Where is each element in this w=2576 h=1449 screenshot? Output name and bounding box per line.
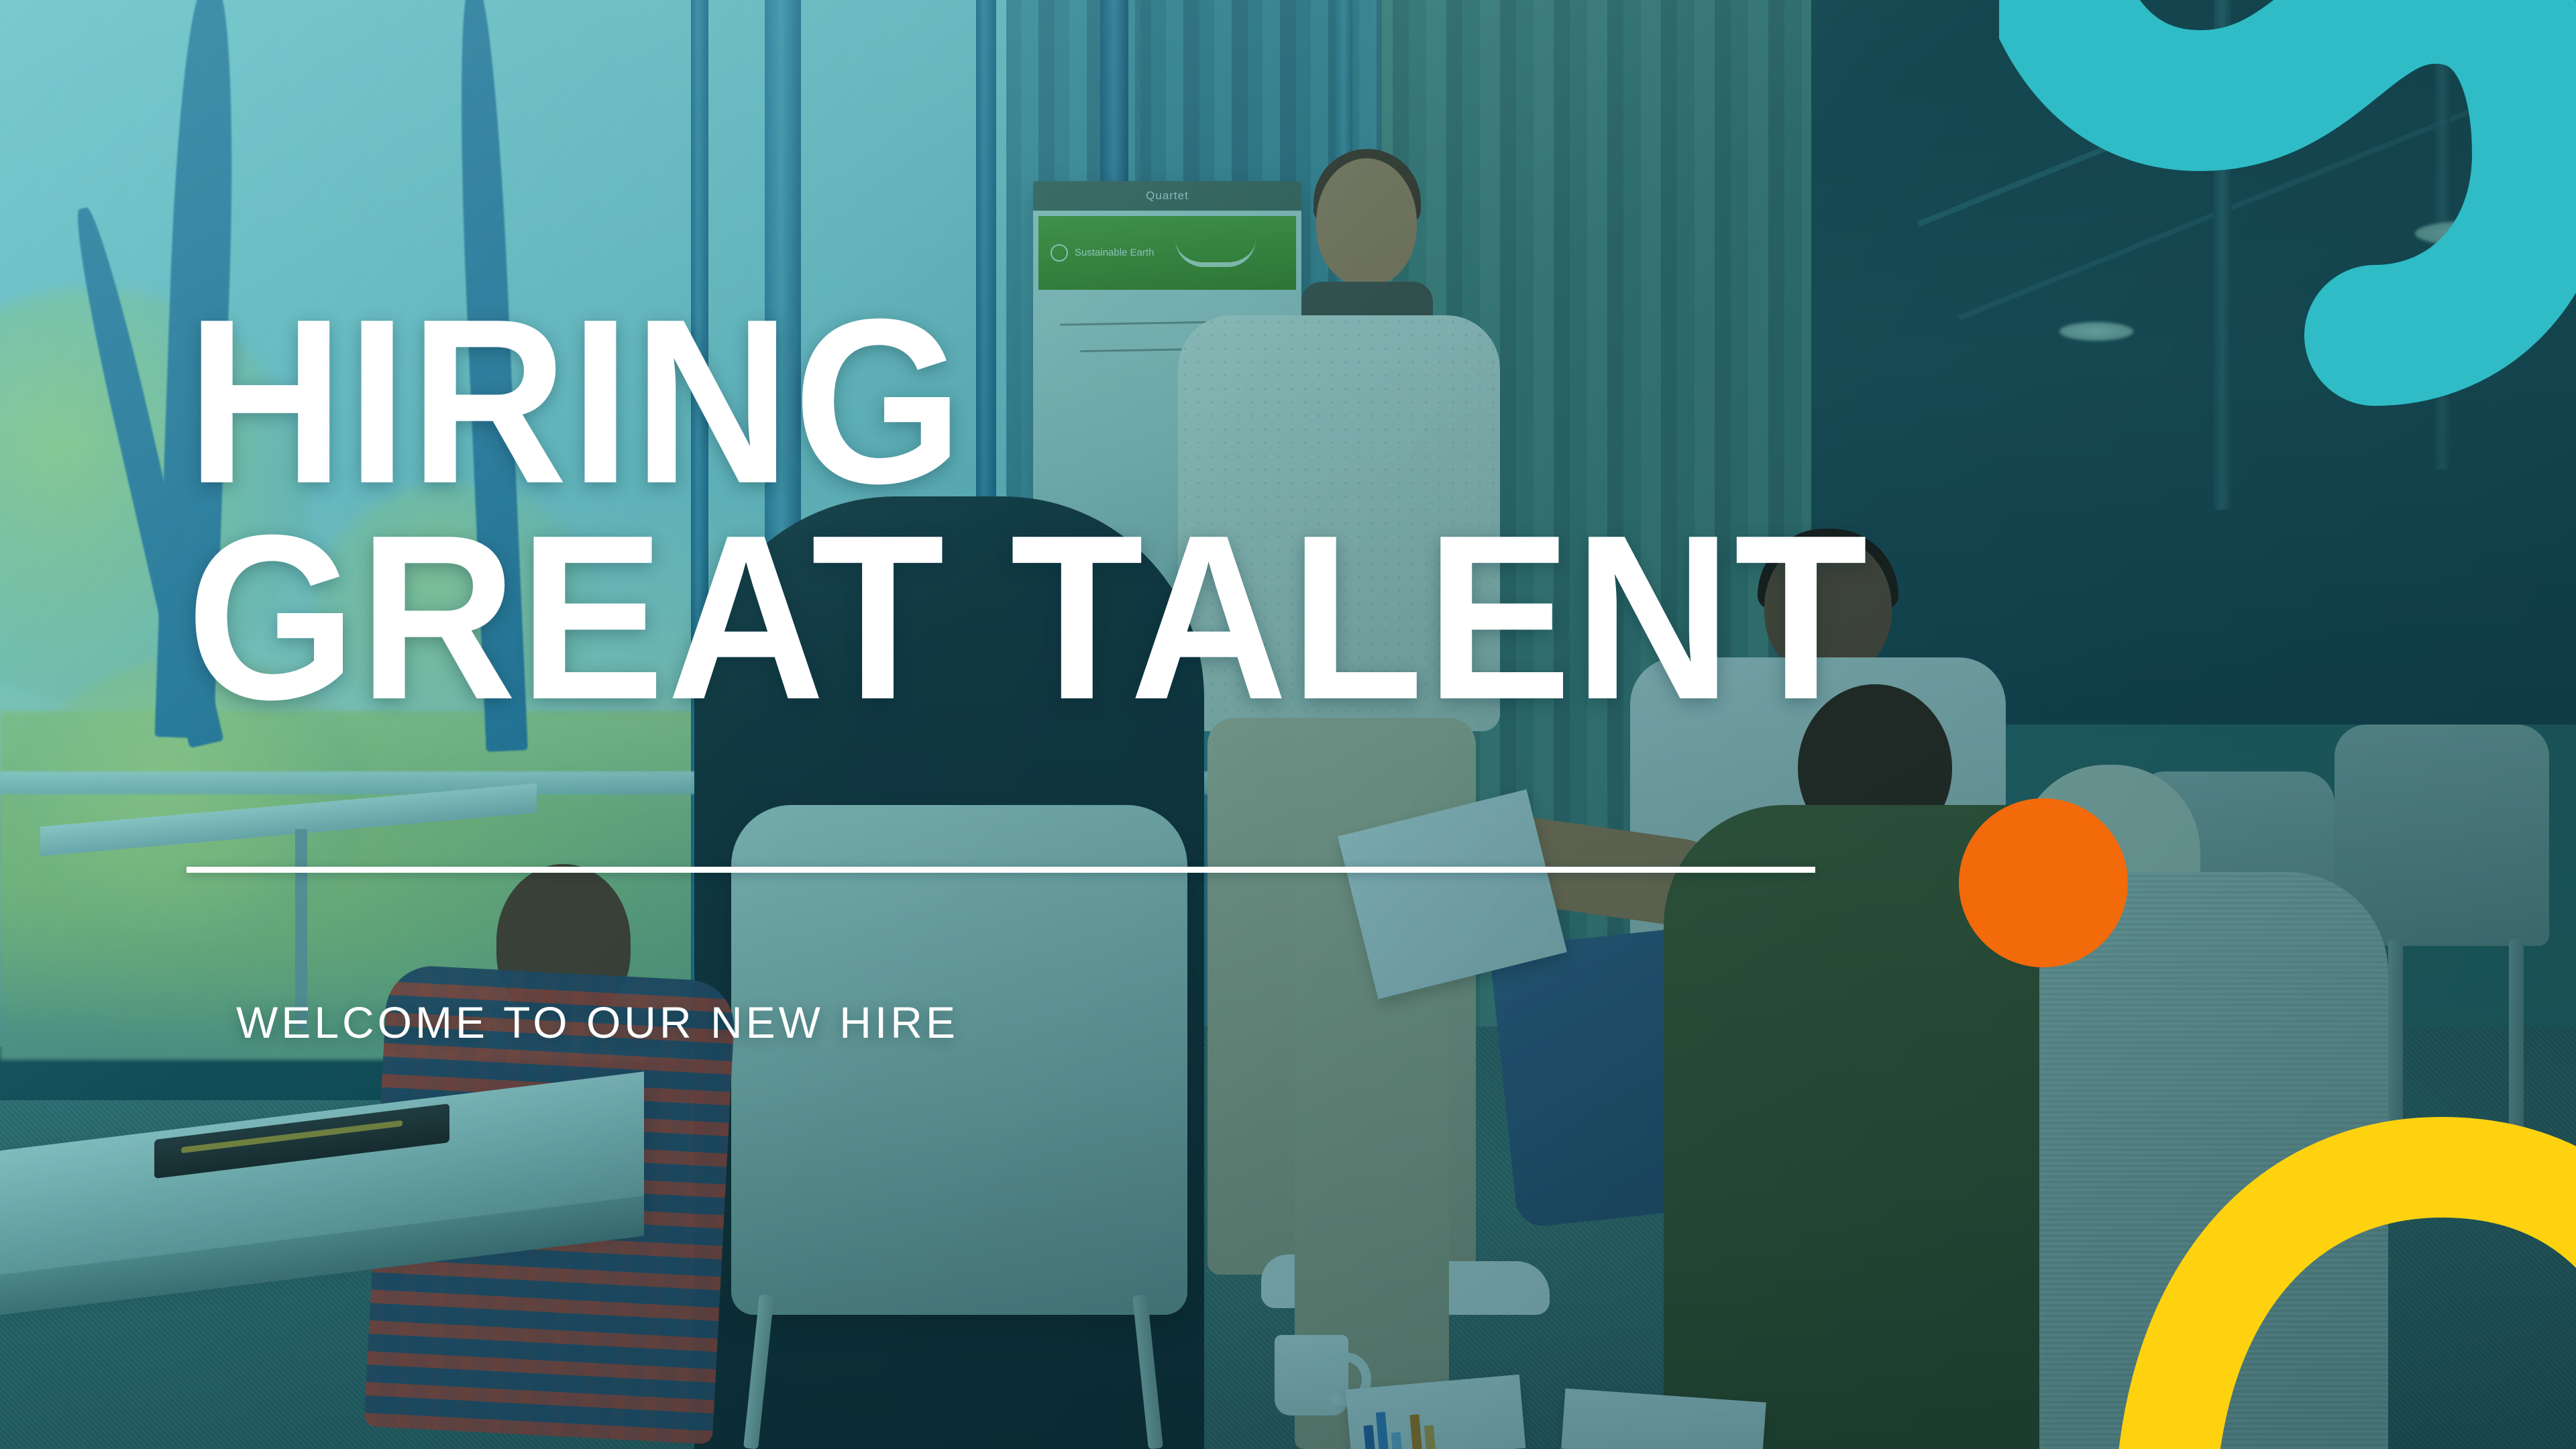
divider-rule — [186, 867, 1815, 873]
headline-line-1: HIRING — [186, 294, 1870, 510]
subtitle: WELCOME TO OUR NEW HIRE — [236, 997, 959, 1048]
poster-canvas: Quartet Sustainable Earth — [0, 0, 2576, 1449]
page-title: HIRING GREAT TALENT — [186, 294, 1870, 726]
headline-line-2: GREAT TALENT — [186, 510, 1870, 726]
poster-text-block: HIRING GREAT TALENT WELCOME TO OUR NEW H… — [0, 0, 2576, 1449]
